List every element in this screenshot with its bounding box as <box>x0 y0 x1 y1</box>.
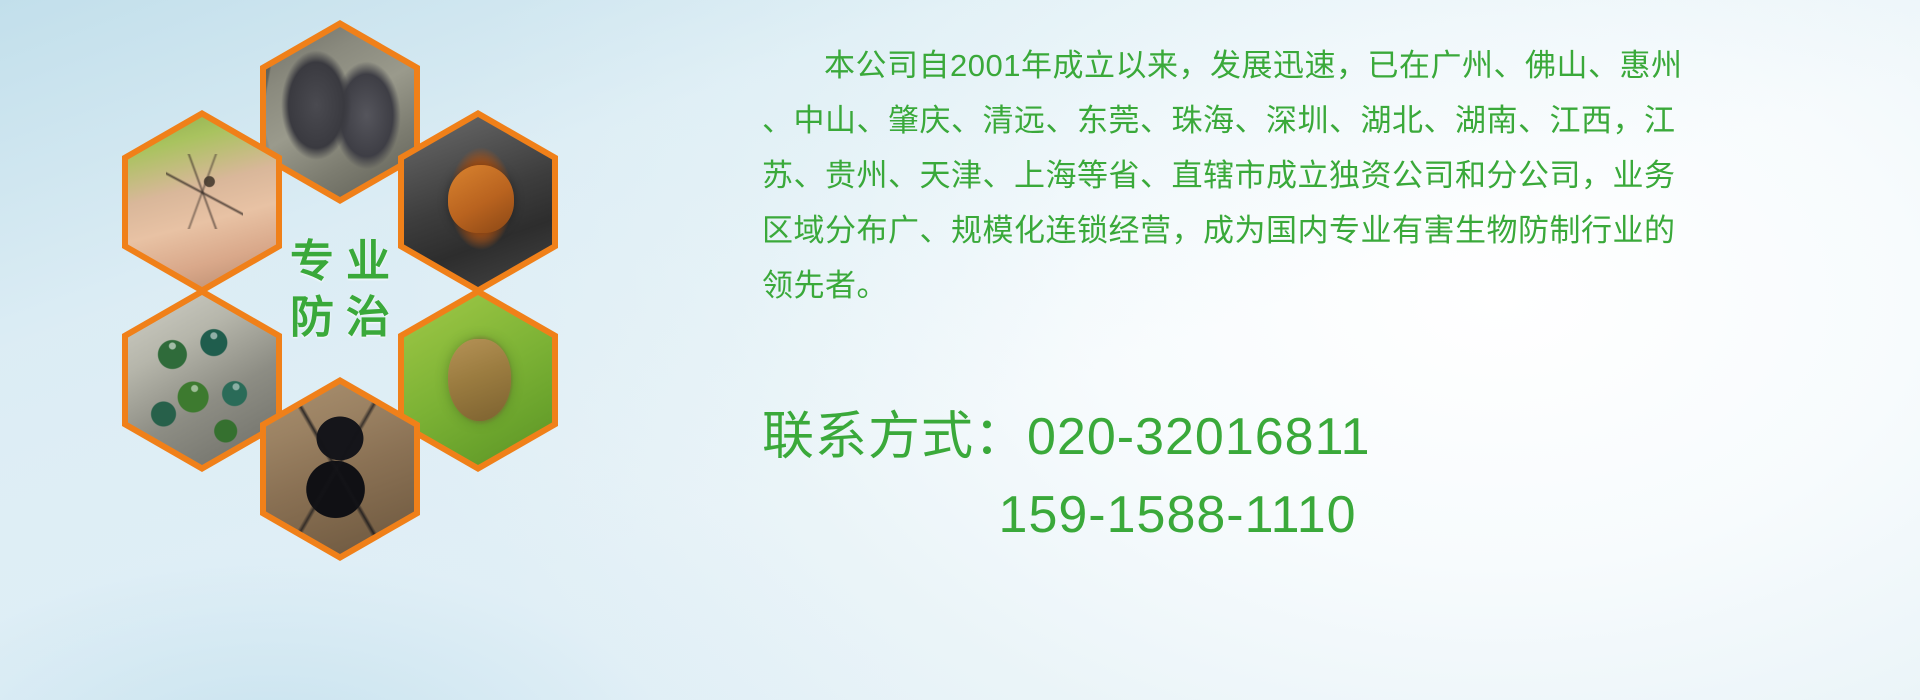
hex-slogan-line1: 专业 <box>278 239 402 285</box>
hex-photo-cluster: 专业 防治 <box>88 10 588 570</box>
cockroach-photo <box>404 117 552 287</box>
intro-line-1: 本公司自2001年成立以来，发展迅速，已在广州、佛山、惠州 <box>762 38 1902 93</box>
contact-phone-primary[interactable]: 联系方式：020-32016811 <box>762 398 1371 476</box>
hex-tile-ant[interactable] <box>260 377 420 561</box>
hex-inner-rats <box>266 27 414 197</box>
hex-inner-mosquito <box>128 117 276 287</box>
hex-tile-flies[interactable] <box>122 288 282 472</box>
hex-tile-slogan: 专业 防治 <box>260 198 420 382</box>
hex-tile-stinkbug[interactable] <box>398 288 558 472</box>
hex-tile-cockroach[interactable] <box>398 110 558 294</box>
company-intro-paragraph: 本公司自2001年成立以来，发展迅速，已在广州、佛山、惠州 、中山、肇庆、清远、… <box>762 38 1902 313</box>
hex-inner-cockroach <box>404 117 552 287</box>
flies-photo <box>128 295 276 465</box>
rats-photo <box>266 27 414 197</box>
hex-slogan-label: 专业 防治 <box>260 198 420 382</box>
intro-line-3: 苏、贵州、天津、上海等省、直辖市成立独资公司和分公司，业务 <box>762 148 1902 203</box>
hex-inner-flies <box>128 295 276 465</box>
hex-tile-mosquito[interactable] <box>122 110 282 294</box>
hex-slogan-line2: 防治 <box>278 295 402 341</box>
intro-line-5: 领先者。 <box>762 258 1902 313</box>
hex-inner-ant <box>266 384 414 554</box>
hex-inner-stinkbug <box>404 295 552 465</box>
intro-line-4: 区域分布广、规模化连锁经营，成为国内专业有害生物防制行业的 <box>762 203 1902 258</box>
contact-block: 联系方式：020-32016811 159-1588-1110 <box>762 398 1371 554</box>
mosquito-photo <box>128 117 276 287</box>
promo-banner: 专业 防治 本公司自2001年成立以来，发展迅速，已在广州、佛山、惠州 、中山、… <box>0 0 1920 700</box>
ant-photo <box>266 384 414 554</box>
intro-line-2: 、中山、肇庆、清远、东莞、珠海、深圳、湖北、湖南、江西，江 <box>762 93 1902 148</box>
stinkbug-photo <box>404 295 552 465</box>
hex-tile-rats[interactable] <box>260 20 420 204</box>
contact-phone-secondary[interactable]: 159-1588-1110 <box>762 476 1371 554</box>
